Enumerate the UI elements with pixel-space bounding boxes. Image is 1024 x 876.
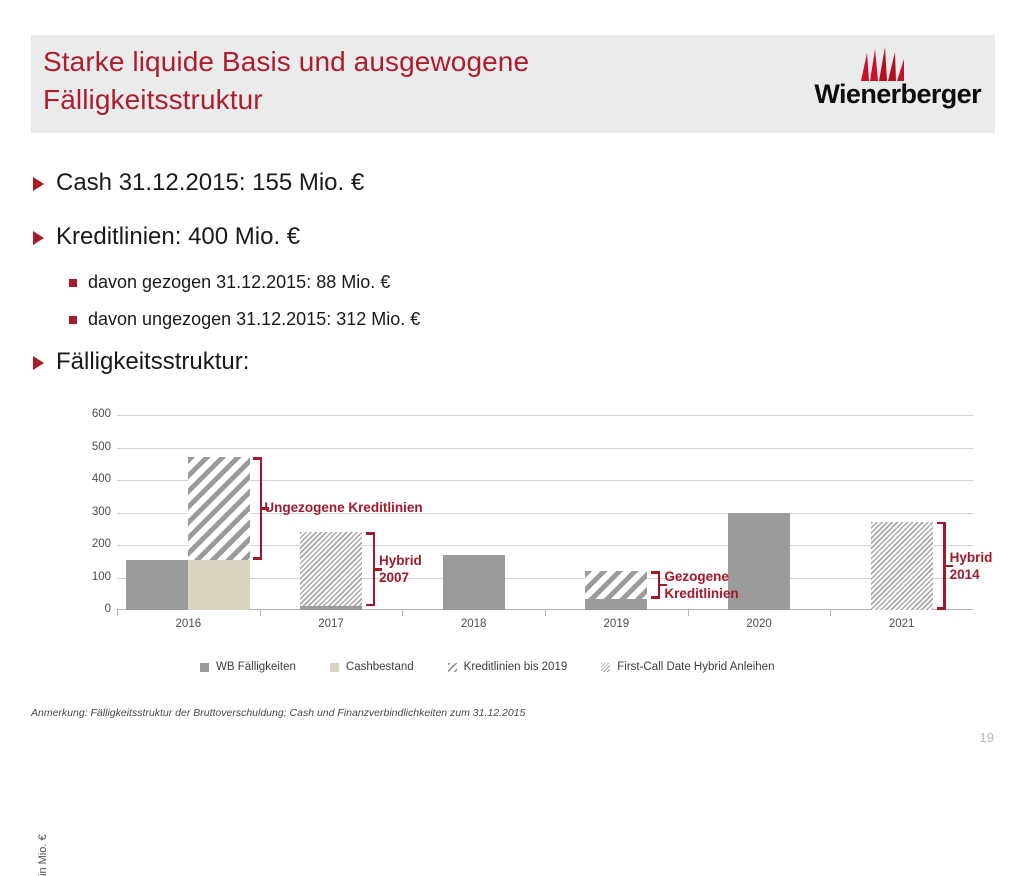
x-axis-tick-mark [830, 610, 831, 616]
bullet-item-faelligkeitsstruktur: Fälligkeitsstruktur: [33, 347, 733, 377]
annotation-label-line2: Kreditlinien [664, 585, 738, 602]
annotation-bracket-2016 [252, 457, 262, 559]
wienerberger-logo: Wienerberger [785, 45, 985, 123]
sub-bullet-text: davon ungezogen 31.12.2015: 312 Mio. € [88, 307, 420, 331]
x-axis-tick-label: 2020 [689, 618, 829, 630]
legend-item-1: Cashbestand [330, 661, 414, 673]
legend-label: WB Fälligkeiten [216, 661, 296, 673]
page-title-line1: Starke liquide Basis und ausgewogene [43, 43, 683, 81]
logo-wordmark: Wienerberger [814, 79, 981, 110]
bracket-cap-top [651, 571, 660, 574]
page-number: 19 [980, 730, 994, 745]
x-axis-tick-mark [260, 610, 261, 616]
sub-bullet-list: davon gezogen 31.12.2015: 88 Mio. € davo… [69, 270, 733, 331]
x-axis-tick-mark [688, 610, 689, 616]
bar-hybrid-2021 [871, 522, 933, 610]
gridline [117, 448, 973, 449]
square-bullet-icon [69, 316, 77, 324]
bullet-item-cash: Cash 31.12.2015: 155 Mio. € [33, 168, 733, 198]
triangle-bullet-icon [33, 231, 44, 245]
bullet-item-kreditlinien: Kreditlinien: 400 Mio. € [33, 222, 733, 252]
gridline [117, 415, 973, 416]
bullet-text: Cash 31.12.2015: 155 Mio. € [56, 168, 364, 198]
annotation-label-line1: Gezogene [664, 568, 738, 585]
y-axis-tick-label: 500 [51, 441, 111, 453]
y-axis-tick-label: 0 [51, 603, 111, 615]
maturity-structure-chart: in Mio. € 010020030040050060020162017201… [33, 406, 973, 696]
logo-flame-icon [855, 47, 907, 81]
bar-wb-faelligkeiten-2018 [443, 555, 505, 610]
bullet-text: Fälligkeitsstruktur: [56, 347, 249, 377]
bracket-cap-bottom [651, 596, 660, 599]
y-axis-label: in Mio. € [37, 834, 49, 876]
annotation-label-line2: 2007 [379, 569, 422, 586]
sub-bullet-text: davon gezogen 31.12.2015: 88 Mio. € [88, 270, 390, 294]
y-axis-tick-label: 400 [51, 473, 111, 485]
bracket-cap-bottom [366, 604, 375, 607]
bracket-cap-bottom [253, 557, 262, 560]
annotation-label-2019: GezogeneKreditlinien [664, 568, 738, 602]
legend-label: Cashbestand [346, 661, 414, 673]
bar-cashbestand-2016 [188, 560, 250, 610]
slide-header: Starke liquide Basis und ausgewogene Fäl… [31, 35, 995, 133]
legend-item-3: First-Call Date Hybrid Anleihen [601, 661, 774, 673]
x-axis-tick-label: 2018 [404, 618, 544, 630]
x-axis-tick-mark [402, 610, 403, 616]
bar-kreditlinien-2019 [585, 571, 647, 599]
legend-swatch [601, 663, 610, 672]
annotation-label-line2: 2014 [950, 566, 993, 583]
legend-swatch [448, 663, 457, 672]
legend-label: First-Call Date Hybrid Anleihen [617, 661, 774, 673]
legend-swatch [200, 663, 209, 672]
annotation-bracket-2019 [650, 571, 660, 599]
bar-wb-faelligkeiten-2017 [300, 606, 362, 610]
bracket-cap-top [366, 532, 375, 535]
bar-hybrid-2017 [300, 532, 362, 606]
annotation-label-2016: Ungezogene Kreditlinien [264, 499, 422, 516]
annotation-label-2017: Hybrid2007 [379, 552, 422, 586]
bar-wb-faelligkeiten-2019 [585, 599, 647, 610]
y-axis-tick-label: 300 [51, 506, 111, 518]
bar-kreditlinien-2016 [188, 457, 250, 559]
bullet-text: Kreditlinien: 400 Mio. € [56, 222, 300, 252]
footnote: Anmerkung: Fälligkeitsstruktur der Brutt… [31, 707, 525, 719]
bullet-list: Cash 31.12.2015: 155 Mio. € Kreditlinien… [33, 168, 733, 401]
sub-bullet-item-gezogen: davon gezogen 31.12.2015: 88 Mio. € [69, 270, 733, 294]
chart-plot-area: 0100200300400500600201620172018201920202… [117, 415, 973, 610]
x-axis-tick-mark [545, 610, 546, 616]
annotation-label-2021: Hybrid2014 [950, 549, 993, 583]
triangle-bullet-icon [33, 356, 44, 370]
y-axis-tick-label: 100 [51, 571, 111, 583]
annotation-bracket-2021 [936, 522, 946, 610]
page-title-line2: Fälligkeitsstruktur [43, 81, 683, 119]
bracket-cap-top [253, 457, 262, 460]
triangle-bullet-icon [33, 177, 44, 191]
legend-item-2: Kreditlinien bis 2019 [448, 661, 568, 673]
legend-item-0: WB Fälligkeiten [200, 661, 296, 673]
bar-wb-faelligkeiten-2016 [126, 560, 188, 610]
x-axis-tick-label: 2019 [546, 618, 686, 630]
annotation-bracket-2017 [365, 532, 375, 606]
annotation-label-line1: Hybrid [379, 552, 422, 569]
legend-label: Kreditlinien bis 2019 [464, 661, 568, 673]
bracket-cap-bottom [937, 607, 946, 610]
y-axis-tick-label: 600 [51, 408, 111, 420]
x-axis-tick-label: 2021 [832, 618, 972, 630]
annotation-label-line1: Hybrid [950, 549, 993, 566]
legend-swatch [330, 663, 339, 672]
x-axis-tick-label: 2017 [261, 618, 401, 630]
sub-bullet-item-ungezogen: davon ungezogen 31.12.2015: 312 Mio. € [69, 307, 733, 331]
x-axis-tick-mark [117, 610, 118, 616]
bracket-cap-top [937, 522, 946, 525]
chart-legend: WB FälligkeitenCashbestandKreditlinien b… [200, 661, 860, 673]
y-axis-tick-label: 200 [51, 538, 111, 550]
x-axis-tick-label: 2016 [118, 618, 258, 630]
square-bullet-icon [69, 279, 77, 287]
page-title: Starke liquide Basis und ausgewogene Fäl… [43, 43, 683, 119]
